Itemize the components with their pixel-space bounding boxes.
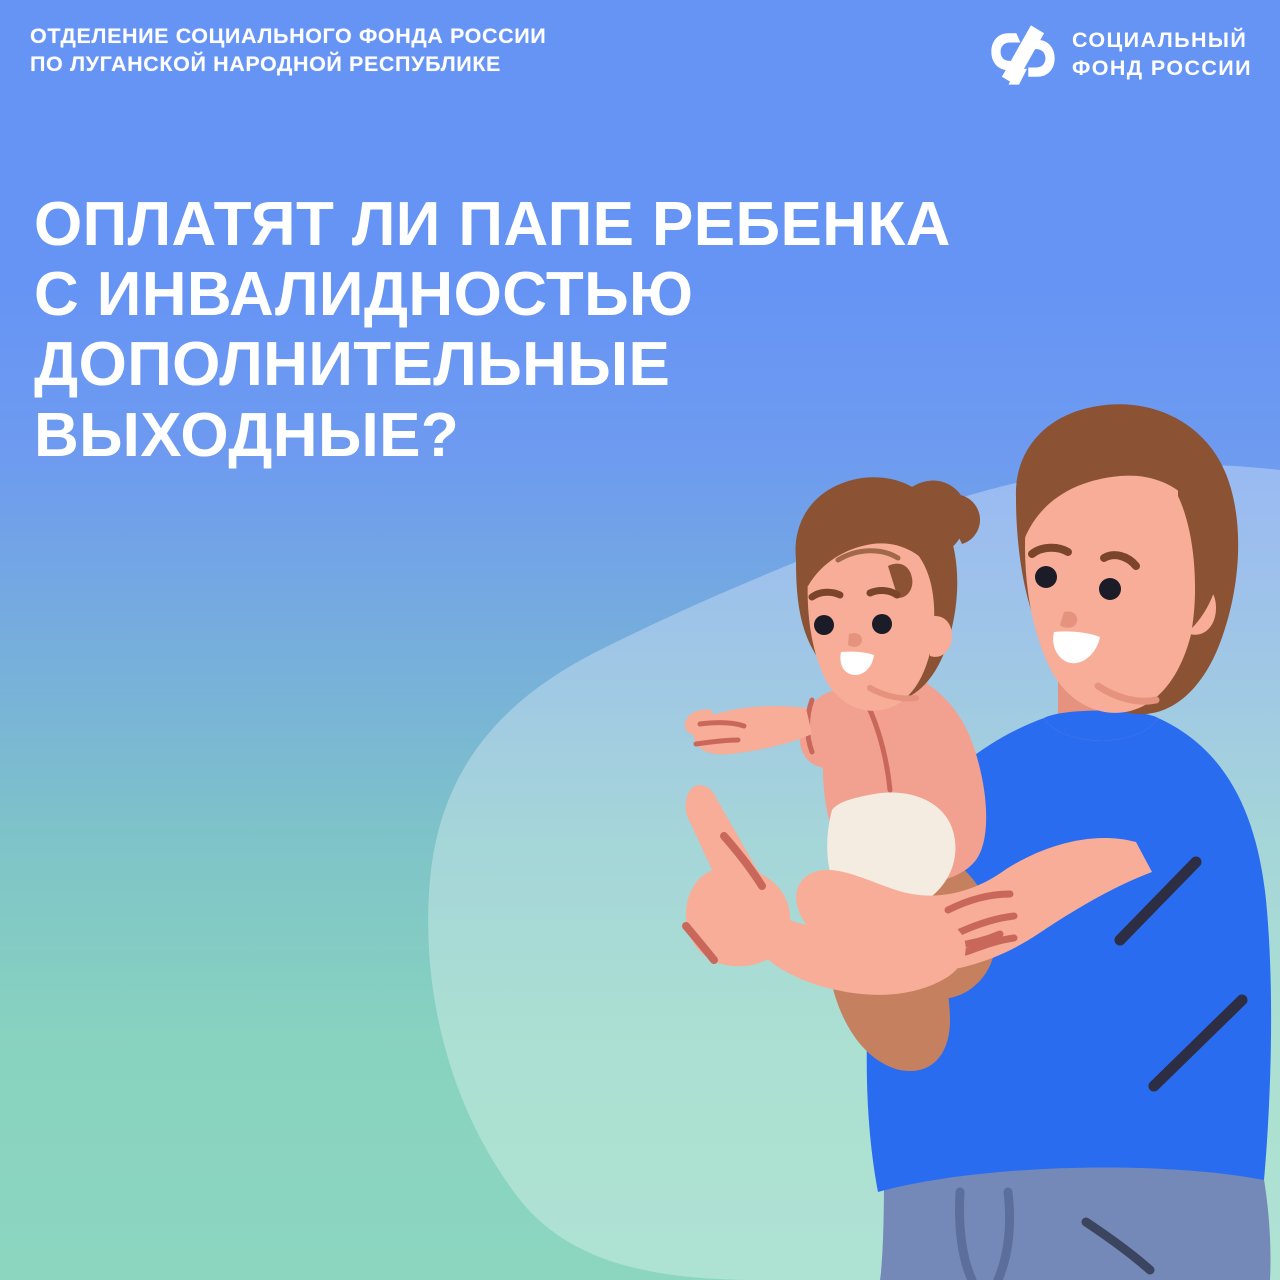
child-pink-hairtie-icon — [875, 499, 920, 537]
child-far-leg — [825, 852, 950, 1071]
child-ear — [926, 616, 952, 657]
father-neck — [1058, 672, 1144, 772]
father-ear — [1186, 583, 1216, 635]
father-eyebrow-left — [1032, 548, 1068, 554]
father-face — [1025, 453, 1198, 713]
child-white-diaper — [827, 792, 955, 913]
father-blue-tshirt — [867, 711, 1271, 1193]
father-chin-shadow — [1098, 686, 1156, 701]
father-gray-pants — [880, 1156, 1271, 1280]
page-title: ОПЛАТЯТ ЛИ ПАПЕ РЕБЕНКА С ИНВАЛИДНОСТЬЮ … — [34, 190, 1264, 471]
child-eye-left — [814, 615, 834, 635]
poster-root: ОТДЕЛЕНИЕ СОЦИАЛЬНОГО ФОНДА РОССИИ ПО ЛУ… — [0, 0, 1280, 1280]
child-hair-front-icon — [800, 498, 943, 598]
child-near-leg — [867, 842, 995, 999]
poster-header: ОТДЕЛЕНИЕ СОЦИАЛЬНОГО ФОНДА РОССИИ ПО ЛУ… — [0, 0, 1280, 100]
child-smile — [840, 652, 874, 675]
father-nose — [1060, 611, 1077, 627]
father-eyebrow-right — [1104, 555, 1136, 566]
father-supporting-arm — [796, 838, 1152, 973]
brand-block: СОЦИАЛЬНЫЙ ФОНД РОССИИ — [990, 24, 1252, 86]
child-face — [808, 534, 935, 711]
organization-name: ОТДЕЛЕНИЕ СОЦИАЛЬНОГО ФОНДА РОССИИ ПО ЛУ… — [30, 22, 546, 79]
father-eye-right — [1099, 578, 1121, 600]
child-hair-back — [796, 477, 958, 702]
child-nose — [848, 633, 862, 647]
sfr-monogram-icon — [990, 24, 1056, 86]
father-eye-left — [1035, 566, 1057, 588]
child-ponytail-icon — [898, 481, 980, 554]
child-eyebrow-right — [870, 591, 897, 595]
child-chin-shadow — [870, 688, 916, 699]
child-pink-top — [800, 667, 986, 883]
child-pointing-arm — [685, 706, 812, 754]
brand-name: СОЦИАЛЬНЫЙ ФОНД РОССИИ — [1072, 27, 1252, 83]
child-eye-right — [872, 614, 892, 634]
father-pointing-hand-icon — [686, 785, 966, 995]
father-smile — [1053, 631, 1100, 663]
child-eyebrow-left — [812, 592, 840, 597]
